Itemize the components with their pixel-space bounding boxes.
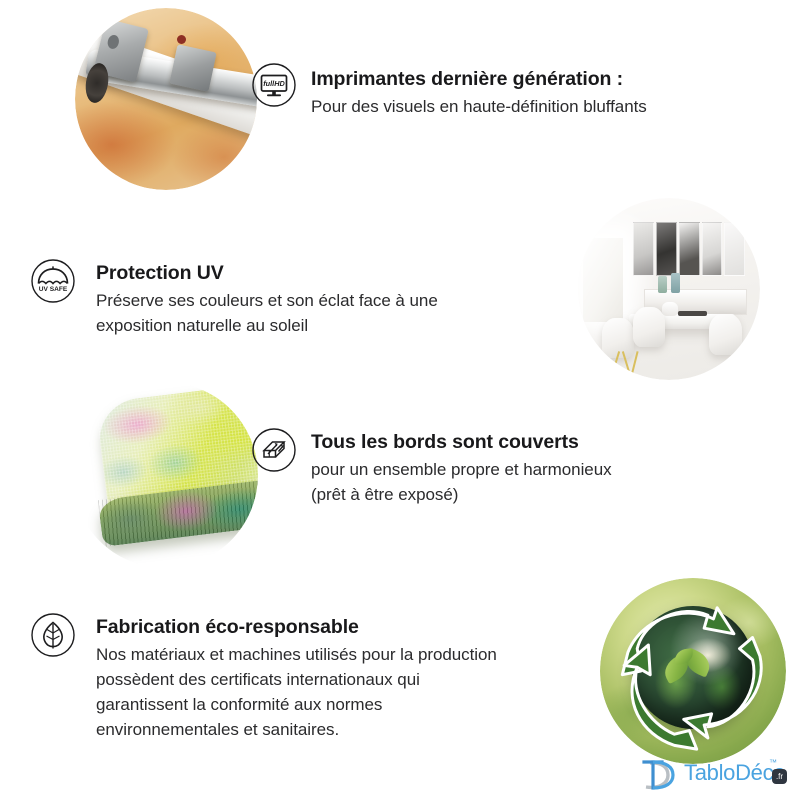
- dining-chair: [633, 307, 666, 347]
- domain-badge: .fr: [772, 769, 787, 784]
- fullhd-icon-label: fullHD: [263, 79, 285, 88]
- teapot: [662, 302, 678, 317]
- feature-printers-heading: Imprimantes dernière génération :: [311, 67, 647, 92]
- printer-head-right: [170, 44, 217, 91]
- feature-printers-line-0: Pour des visuels en haute-définition blu…: [311, 94, 647, 119]
- feature-covered-edges-line-1: (prêt à être exposé): [311, 482, 612, 507]
- feature-printers-text: Imprimantes dernière génération : Pour d…: [311, 67, 647, 119]
- feature-eco-manufacturing-line-0: Nos matériaux et machines utilisés pour …: [96, 642, 497, 667]
- feature-covered-edges-heading: Tous les bords sont couverts: [311, 430, 612, 455]
- feature-covered-edges-line-0: pour un ensemble propre et harmonieux: [311, 457, 612, 482]
- room-window: [583, 238, 623, 322]
- tray: [678, 311, 707, 316]
- feature-eco-manufacturing-line-3: environnementales et sanitaires.: [96, 717, 497, 742]
- trademark-symbol: ™: [769, 758, 777, 767]
- feature-eco-manufacturing-text: Fabrication éco-responsable Nos matériau…: [96, 615, 497, 742]
- chair-wooden-legs: [613, 351, 638, 373]
- canvas-corner-photo: [72, 382, 258, 568]
- tablodeco-monogram-icon: [640, 756, 682, 794]
- tablodeco-logo[interactable]: TabloDéco ™ .fr: [640, 756, 792, 796]
- feature-uv-protection-line-0: Préserve ses couleurs et son éclat face …: [96, 288, 438, 313]
- leaf-sprout: [663, 649, 711, 682]
- wall-canvas-panels: [633, 222, 746, 277]
- feature-uv-protection-text: Protection UV Préserve ses couleurs et s…: [96, 261, 438, 338]
- eco-globe-photo: [600, 578, 786, 764]
- fullhd-monitor-icon: fullHD: [251, 62, 297, 108]
- wrapped-edges-icon: [251, 427, 297, 473]
- feature-eco-manufacturing-line-1: possèdent des certificats internationaux…: [96, 667, 497, 692]
- decor-bottle: [658, 276, 667, 292]
- dining-chair: [709, 314, 742, 354]
- printer-indicator-dot: [177, 35, 186, 44]
- feature-uv-protection-line-1: exposition naturelle au soleil: [96, 313, 438, 338]
- dining-room-photo: [578, 198, 760, 380]
- feature-uv-protection-heading: Protection UV: [96, 261, 438, 286]
- leaf-eco-icon: [30, 612, 76, 658]
- printer-roller-photo: [75, 8, 257, 190]
- uv-safe-umbrella-icon: UV SAFE: [30, 258, 76, 304]
- feature-covered-edges-text: Tous les bords sont couverts pour un ens…: [311, 430, 612, 507]
- uv-safe-icon-label: UV SAFE: [39, 286, 68, 293]
- feature-eco-manufacturing-line-2: garantissent la conformité aux normes: [96, 692, 497, 717]
- infographic-page: fullHD Imprimantes dernière génération :…: [0, 0, 800, 800]
- decor-bottle: [671, 273, 680, 293]
- feature-eco-manufacturing-heading: Fabrication éco-responsable: [96, 615, 497, 640]
